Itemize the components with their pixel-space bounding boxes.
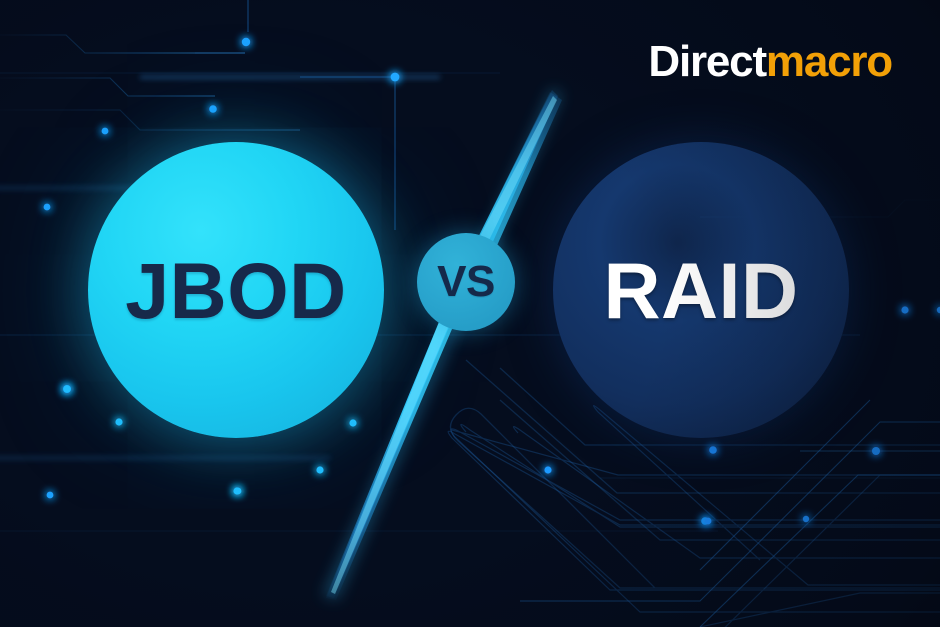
logo-text-primary: Direct [648,37,766,86]
vs-label: VS [437,260,495,304]
logo-text-accent: macro [766,37,892,86]
brand-logo: Directmacro [648,40,892,84]
poster-canvas: JBOD RAID VS Directmacro [0,0,940,627]
vs-badge: VS [417,233,515,331]
